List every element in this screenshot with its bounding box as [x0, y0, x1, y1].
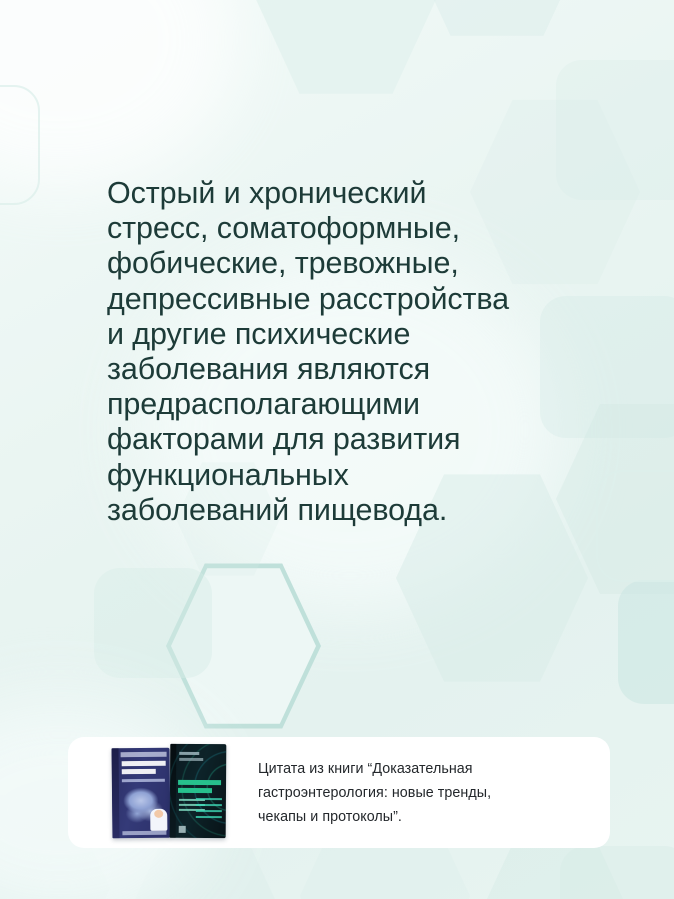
page-title: Острый и хронический стресс, соматоформн… [107, 176, 607, 528]
book-publisher-logo [179, 825, 186, 832]
hexagon-outline-lower-left [166, 560, 321, 732]
book-title-line-1 [122, 760, 166, 765]
rounded-square-top-left [0, 85, 40, 205]
rounded-square-right-outline [596, 470, 674, 582]
book-header-line-2 [179, 757, 203, 760]
book-title-line-2 [178, 787, 212, 792]
quote-source-card: Цитата из книги “Доказательная гастроэнт… [68, 737, 610, 848]
book-title-line-2 [122, 768, 156, 773]
hexagon-bottom-right [470, 840, 640, 899]
book-title-line-1 [178, 779, 221, 784]
quote-source-text: Цитата из книги “Доказательная гастроэнт… [258, 757, 491, 829]
book-spine [112, 748, 120, 838]
book-cover-evidence-gastroenterology-violet-icon [112, 747, 171, 838]
rounded-square-lower-left [94, 568, 212, 678]
book-cover-evidence-gastroenterology-dark-icon [170, 743, 227, 837]
book-footer-band [122, 830, 166, 834]
book-header-line-1 [179, 751, 199, 754]
glow-top-left [0, 0, 240, 190]
hexagon-top-center [253, 0, 439, 98]
book-doctor-figure [150, 808, 167, 830]
book-subtitle-line [122, 778, 165, 781]
book-header-band [121, 751, 167, 756]
rounded-square-bottom-right [560, 846, 674, 899]
book-tag-lines [196, 797, 222, 821]
rounded-square-lower-right [618, 580, 674, 704]
slide-root: Острый и хронический стресс, соматоформн… [0, 0, 674, 899]
book-covers-group [108, 745, 236, 841]
hexagon-top-right [404, 0, 590, 40]
